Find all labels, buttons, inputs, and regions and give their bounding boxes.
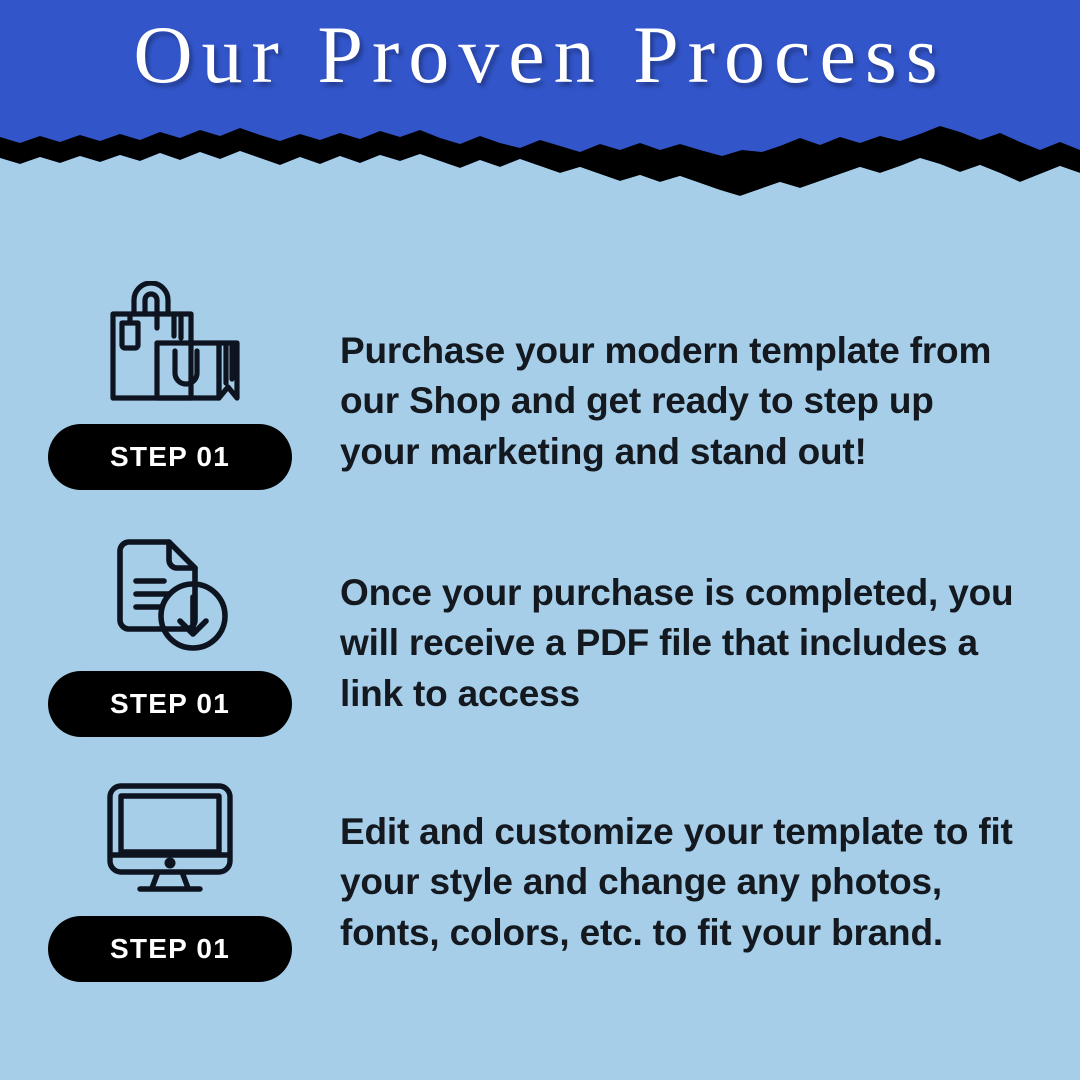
step-row: STEP 01 Once your purchase is completed,… bbox=[0, 516, 1080, 756]
shopping-bags-icon bbox=[48, 276, 292, 416]
step-marker-2: STEP 01 bbox=[48, 523, 292, 738]
step-description-1: Purchase your modern template from our S… bbox=[340, 326, 1020, 477]
step-row: STEP 01 Edit and customize your template… bbox=[0, 756, 1080, 996]
step-description-2: Once your purchase is completed, you wil… bbox=[340, 568, 1020, 719]
header-band: Our Proven Process bbox=[0, 0, 1080, 210]
step-description-3: Edit and customize your template to fit … bbox=[340, 807, 1020, 958]
step-marker-3: STEP 01 bbox=[48, 768, 292, 983]
step-badge-label: STEP 01 bbox=[110, 933, 230, 965]
step-badge-2[interactable]: STEP 01 bbox=[48, 671, 292, 737]
desktop-monitor-icon bbox=[48, 768, 292, 908]
step-marker-1: STEP 01 bbox=[48, 276, 292, 491]
document-download-icon bbox=[48, 523, 292, 663]
step-row: STEP 01 Purchase your modern template fr… bbox=[0, 276, 1080, 516]
step-badge-1[interactable]: STEP 01 bbox=[48, 424, 292, 490]
infographic-canvas: Our Proven Process bbox=[0, 0, 1080, 1080]
step-badge-3[interactable]: STEP 01 bbox=[48, 916, 292, 982]
page-title: Our Proven Process bbox=[0, 14, 1080, 96]
step-badge-label: STEP 01 bbox=[110, 441, 230, 473]
step-badge-label: STEP 01 bbox=[110, 688, 230, 720]
steps-list: STEP 01 Purchase your modern template fr… bbox=[0, 276, 1080, 996]
